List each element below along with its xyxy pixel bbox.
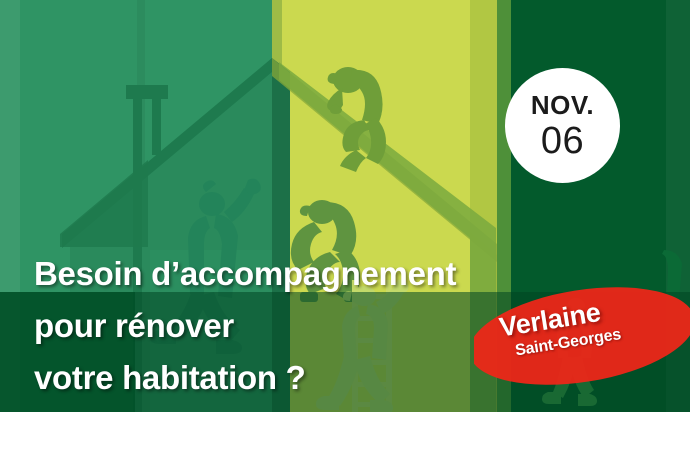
location-badge: Verlaine Saint-Georges: [474, 282, 690, 392]
promo-poster: Besoin d’accompagnement pour rénover vot…: [0, 0, 690, 464]
headline-line-1: Besoin d’accompagnement: [34, 248, 504, 300]
headline-line-2: pour rénover: [34, 300, 504, 352]
headline: Besoin d’accompagnement pour rénover vot…: [34, 248, 504, 404]
date-month: NOV.: [531, 92, 594, 118]
date-badge: NOV. 06: [505, 68, 620, 183]
date-day: 06: [541, 122, 584, 160]
headline-line-3: votre habitation ?: [34, 352, 504, 404]
location-badge-text: Verlaine Saint-Georges: [474, 282, 690, 392]
footer-bar: RENOV’ ENERGIE www.renovenergie.be: [0, 412, 690, 464]
